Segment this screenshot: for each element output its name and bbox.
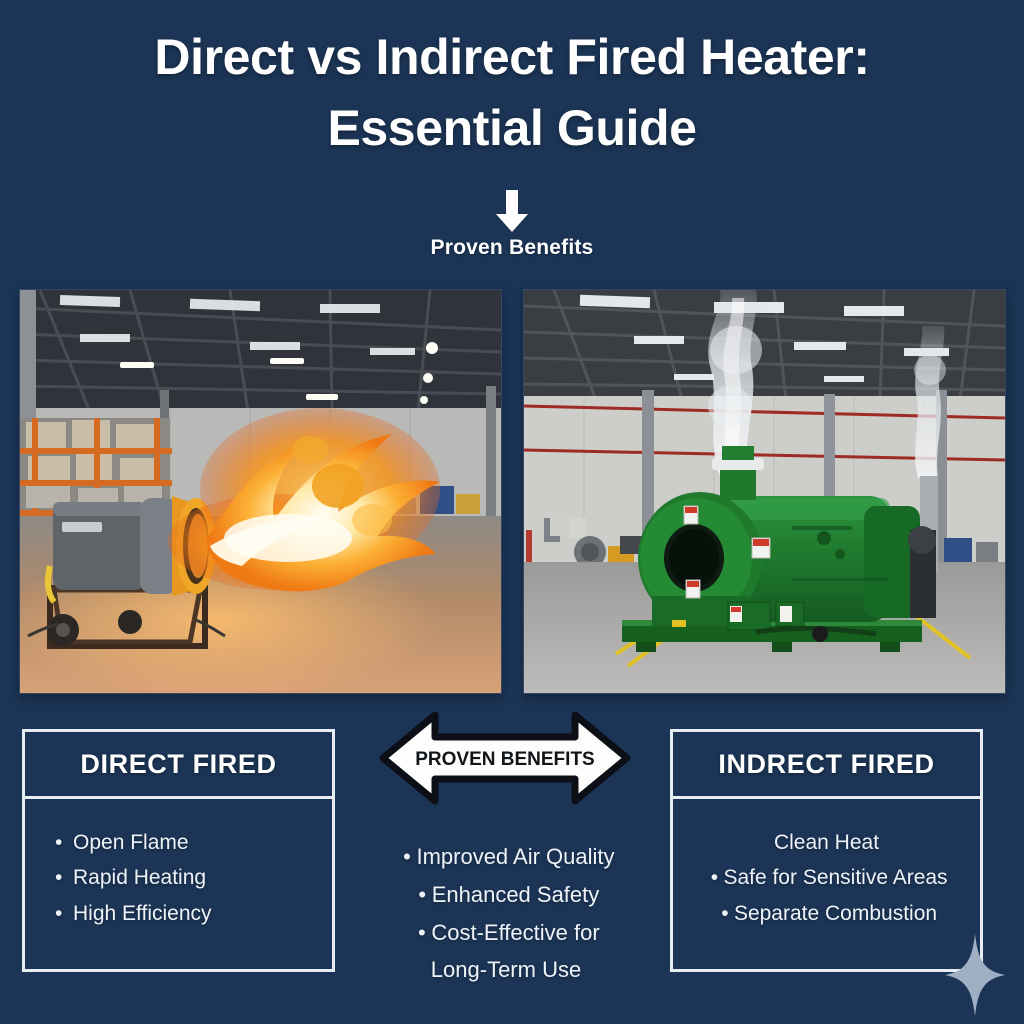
title-line-1: Direct vs Indirect Fired Heater:: [0, 22, 1024, 93]
panel-direct-fired: DIRECT FIRED Open Flame Rapid Heating Hi…: [22, 729, 335, 972]
list-item: Improved Air Quality: [356, 838, 656, 876]
panel-indirect-fired: INDRECT FIRED Clean Heat Safe for Sensit…: [670, 729, 983, 972]
panel-indirect-fired-body: Clean Heat Safe for Sensitive Areas Sepa…: [673, 799, 980, 931]
indirect-fired-feature-list: Clean Heat Safe for Sensitive Areas Sepa…: [673, 825, 980, 931]
list-item: Rapid Heating: [55, 860, 332, 895]
direct-fired-feature-list: Open Flame Rapid Heating High Efficiency: [25, 825, 332, 931]
list-item: High Efficiency: [55, 896, 332, 931]
proven-benefits-list: Improved Air Quality Enhanced Safety Cos…: [356, 838, 656, 989]
panel-indirect-fired-header: INDRECT FIRED: [673, 732, 980, 799]
list-item: Enhanced Safety: [356, 876, 656, 914]
list-item: Safe for Sensitive Areas: [673, 860, 980, 895]
panel-direct-fired-body: Open Flame Rapid Heating High Efficiency: [25, 799, 332, 931]
list-item: Open Flame: [55, 825, 332, 860]
panel-direct-fired-title: DIRECT FIRED: [80, 749, 276, 780]
subtitle-proven-benefits: Proven Benefits: [0, 236, 1024, 260]
direct-fired-heater-photo: [19, 289, 502, 694]
page-title: Direct vs Indirect Fired Heater: Essenti…: [0, 22, 1024, 164]
panel-direct-fired-header: DIRECT FIRED: [25, 732, 332, 799]
four-point-star-icon: [944, 934, 1006, 1016]
panel-indirect-fired-title: INDRECT FIRED: [718, 749, 934, 780]
list-item: Clean Heat: [673, 825, 980, 860]
list-item: Separate Combustion: [673, 896, 980, 931]
title-line-2: Essential Guide: [0, 93, 1024, 164]
arrow-down-icon: [495, 190, 529, 233]
infographic-canvas: Direct vs Indirect Fired Heater: Essenti…: [0, 0, 1024, 1024]
indirect-fired-heater-photo: [523, 289, 1006, 694]
double-headed-arrow-icon: PROVEN BENEFITS: [379, 709, 631, 807]
list-item: Cost-Effective for: [356, 914, 656, 952]
list-item: Long-Term Use: [356, 951, 656, 989]
double-arrow-label: PROVEN BENEFITS: [415, 749, 594, 770]
